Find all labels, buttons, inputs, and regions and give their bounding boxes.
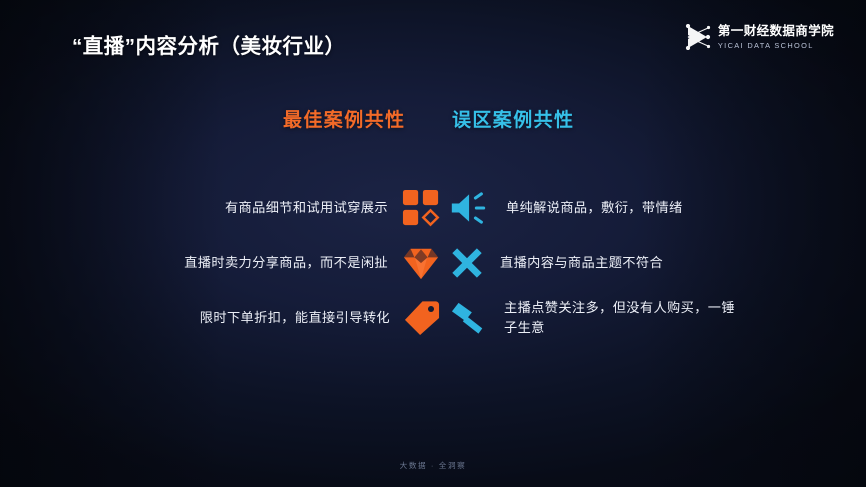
trap-case-item: 单纯解说商品，敷衍，带情绪 bbox=[450, 180, 683, 235]
best-case-item: 有商品细节和试用试穿展示 bbox=[225, 180, 440, 235]
trap-case-item: 直播内容与商品主题不符合 bbox=[450, 235, 663, 290]
column-heading-trap-cases: 误区案例共性 bbox=[452, 105, 574, 132]
brand-text-block: 第一财经数据商学院 YICAI DATA SCHOOL bbox=[718, 25, 834, 49]
brand-name-en: YICAI DATA SCHOOL bbox=[718, 42, 834, 49]
diamond-gem-icon bbox=[402, 245, 440, 281]
column-heading-best-cases: 最佳案例共性 bbox=[283, 105, 405, 132]
hammer-gavel-icon bbox=[450, 300, 488, 336]
yicai-triangle-network-logo-icon bbox=[685, 24, 711, 50]
brand-name-cn: 第一财经数据商学院 bbox=[718, 25, 834, 38]
trap-case-label: 直播内容与商品主题不符合 bbox=[500, 253, 663, 273]
trap-case-item: 主播点赞关注多，但没有人购买，一锤子生意 bbox=[450, 290, 744, 345]
best-case-label: 有商品细节和试用试穿展示 bbox=[225, 198, 388, 218]
comparison-row: 限时下单折扣，能直接引导转化 主播点赞关注多，但没有人购买，一锤子生意 bbox=[0, 290, 866, 345]
cross-x-icon bbox=[450, 246, 484, 280]
brand-logo: 第一财经数据商学院 YICAI DATA SCHOOL bbox=[685, 24, 834, 50]
comparison-row: 有商品细节和试用试穿展示 单纯解说商品，敷衍，带情绪 bbox=[0, 180, 866, 235]
best-case-item: 限时下单折扣，能直接引导转化 bbox=[200, 290, 440, 345]
comparison-rows: 有商品细节和试用试穿展示 单纯解说商品，敷衍，带情绪 bbox=[0, 180, 866, 345]
slide-canvas: “直播”内容分析（美妆行业） 第一财经数据商学院 YICAI DATA SCHO… bbox=[0, 0, 866, 487]
best-case-label: 限时下单折扣，能直接引导转化 bbox=[200, 308, 390, 328]
speaker-volume-icon bbox=[450, 192, 490, 224]
trap-case-label: 主播点赞关注多，但没有人购买，一锤子生意 bbox=[504, 298, 744, 338]
page-title: “直播”内容分析（美妆行业） bbox=[72, 29, 346, 59]
price-tag-icon bbox=[404, 300, 440, 336]
comparison-row: 直播时卖力分享商品，而不是闲扯 直播内容与商品主题不符合 bbox=[0, 235, 866, 290]
footer-watermark: 大数据 · 全洞察 bbox=[0, 460, 866, 471]
grid-squares-icon bbox=[402, 189, 440, 227]
trap-case-label: 单纯解说商品，敷衍，带情绪 bbox=[506, 198, 683, 218]
best-case-item: 直播时卖力分享商品，而不是闲扯 bbox=[184, 235, 440, 290]
best-case-label: 直播时卖力分享商品，而不是闲扯 bbox=[184, 253, 388, 273]
